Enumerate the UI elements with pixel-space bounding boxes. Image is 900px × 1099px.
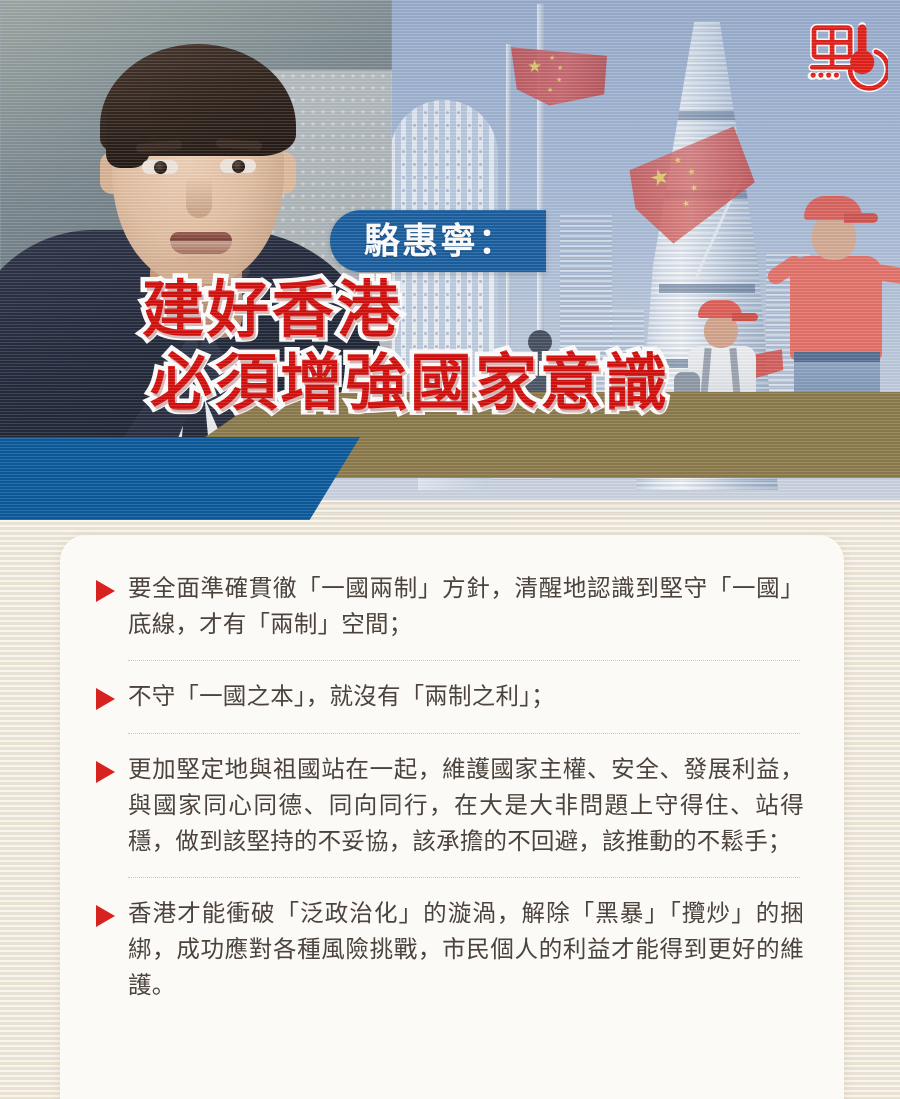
bullet-item: 香港才能衝破「泛政治化」的漩渦，解除「黑暴」「攬炒」的捆綁，成功應對各種風險挑戰…	[96, 896, 804, 1003]
triangle-bullet-icon	[96, 580, 115, 602]
bullet-text: 香港才能衝破「泛政治化」的漩渦，解除「黑暴」「攬炒」的捆綁，成功應對各種風險挑戰…	[128, 896, 804, 1003]
blue-angled-band	[0, 437, 360, 520]
triangle-bullet-icon	[96, 905, 115, 927]
bullet-divider	[128, 877, 800, 878]
bullet-text: 要全面準確貫徹「一國兩制」方針，清醒地認識到堅守「一國」底線，才有「兩制」空間；	[128, 571, 804, 642]
bullet-item: 不守「一國之本」，就沒有「兩制之利」；	[96, 679, 804, 715]
bullet-text: 不守「一國之本」，就沒有「兩制之利」；	[128, 679, 555, 715]
quote-card: 要全面準確貫徹「一國兩制」方針，清醒地認識到堅守「一國」底線，才有「兩制」空間；…	[60, 535, 844, 1099]
bullet-text: 更加堅定地與祖國站在一起，維護國家主權、安全、發展利益，與國家同心同德、同向同行…	[128, 752, 804, 859]
triangle-bullet-icon	[96, 761, 115, 783]
headline-line-1: 建好香港	[142, 278, 862, 345]
dotdotnews-logo-icon[interactable]	[802, 14, 888, 100]
triangle-bullet-icon	[96, 688, 115, 710]
bullet-divider	[128, 733, 800, 734]
headline-line-2: 必須增強國家意識	[150, 351, 862, 418]
speaker-name-badge: 駱惠寧：	[330, 210, 546, 272]
bullet-divider	[128, 660, 800, 661]
news-card-poster: ★★ ★★ ★ ★★ ★★ ★	[0, 0, 900, 1099]
bullet-item: 更加堅定地與祖國站在一起，維護國家主權、安全、發展利益，與國家同心同德、同向同行…	[96, 752, 804, 859]
headline-block: 建好香港 必須增強國家意識	[142, 278, 862, 418]
bullet-item: 要全面準確貫徹「一國兩制」方針，清醒地認識到堅守「一國」底線，才有「兩制」空間；	[96, 571, 804, 642]
speaker-name-label: 駱惠寧：	[364, 223, 516, 259]
